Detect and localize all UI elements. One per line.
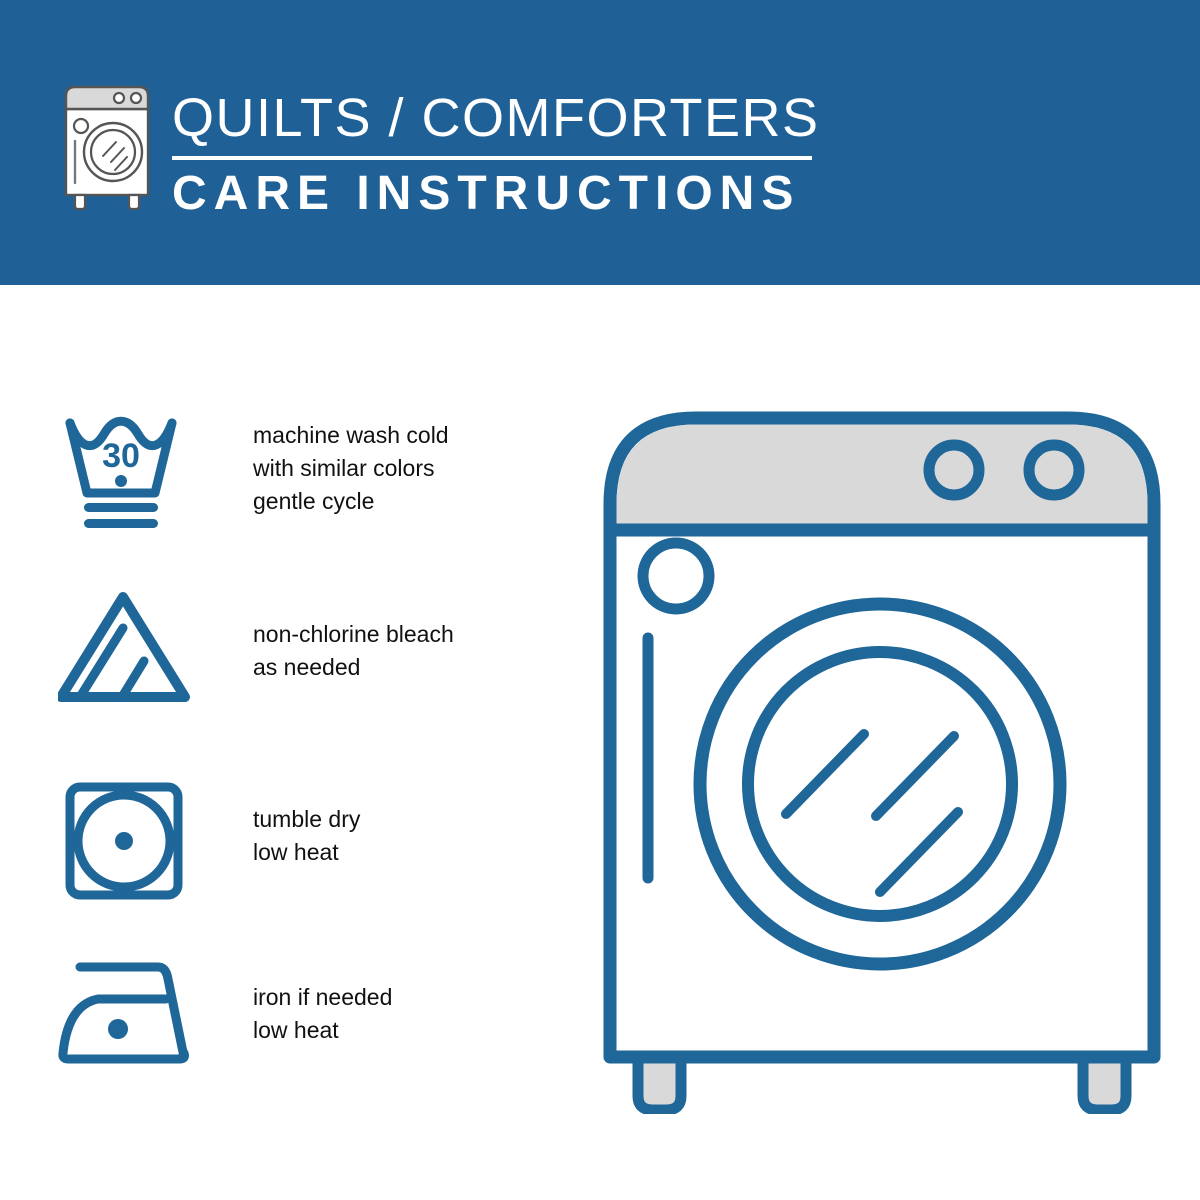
knob-right	[1029, 445, 1079, 495]
title-divider	[172, 156, 812, 160]
knob-left	[929, 445, 979, 495]
page-title: QUILTS / COMFORTERS	[172, 88, 832, 148]
care-item-machine-wash: 30 machine wash cold with similar colors…	[0, 405, 560, 555]
care-text-line: as needed	[253, 651, 553, 684]
page-subtitle: CARE INSTRUCTIONS	[172, 166, 832, 222]
non-chlorine-bleach-triangle-icon	[58, 590, 198, 720]
care-text-line: machine wash cold	[253, 419, 553, 452]
tumble-dry-low-heat-icon	[58, 775, 198, 905]
page-header: QUILTS / COMFORTERS CARE INSTRUCTIONS	[0, 0, 1200, 285]
care-item-iron: iron if needed low heat	[0, 953, 560, 1103]
care-item-label: machine wash cold with similar colors ge…	[253, 419, 553, 518]
care-item-bleach: non-chlorine bleach as needed	[0, 590, 560, 740]
care-text-line: gentle cycle	[253, 485, 553, 518]
washing-machine-icon	[53, 82, 161, 210]
care-text-line: tumble dry	[253, 803, 553, 836]
care-text-line: low heat	[253, 1014, 553, 1047]
care-text-line: low heat	[253, 836, 553, 869]
iron-low-heat-icon	[58, 953, 198, 1083]
washing-machine-illustration	[596, 404, 1168, 1114]
door-inner-ring	[748, 652, 1012, 916]
header-titles: QUILTS / COMFORTERS CARE INSTRUCTIONS	[172, 88, 832, 222]
care-text-line: iron if needed	[253, 981, 553, 1014]
care-item-label: tumble dry low heat	[253, 803, 553, 869]
care-item-tumble-dry: tumble dry low heat	[0, 775, 560, 925]
wash-tub-30-gentle-icon: 30	[58, 405, 198, 535]
care-text-line: non-chlorine bleach	[253, 618, 553, 651]
care-item-label: iron if needed low heat	[253, 981, 553, 1047]
care-text-line: with similar colors	[253, 452, 553, 485]
wash-temperature-value: 30	[102, 437, 140, 475]
indicator-light	[643, 543, 709, 609]
care-item-label: non-chlorine bleach as needed	[253, 618, 553, 684]
